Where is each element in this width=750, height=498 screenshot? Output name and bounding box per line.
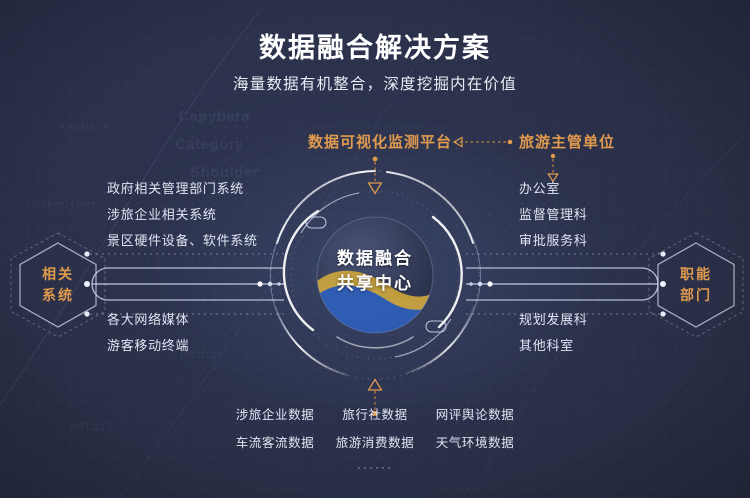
hexagon-icon <box>6 230 110 340</box>
data-cell[interactable]: 网评舆论数据 <box>425 404 525 423</box>
list-item[interactable]: 监督管理科 <box>519 202 588 228</box>
top-node-row: 数据可视化监测平台 旅游主管单位 <box>0 131 750 155</box>
data-cell[interactable]: 车流客流数据 <box>225 432 325 451</box>
list-item[interactable]: 其他科室 <box>519 333 588 359</box>
data-cell[interactable]: 旅行社数据 <box>325 404 425 423</box>
list-item[interactable]: 办公室 <box>519 176 588 202</box>
watermark-code-2: shoulder <box>40 198 98 212</box>
list-item[interactable]: 涉旅企业相关系统 <box>107 202 258 228</box>
page-title: 数据融合解决方案 <box>0 26 750 65</box>
watermark-text-1: Capybara <box>178 108 250 125</box>
left-hexagon-badge[interactable]: 相关 系统 <box>6 230 110 340</box>
bottom-data-grid: 涉旅企业数据 旅行社数据 网评舆论数据 车流客流数据 旅游消费数据 天气环境数据 <box>225 404 525 451</box>
data-cell[interactable]: 涉旅企业数据 <box>225 404 325 423</box>
data-cell[interactable]: 天气环境数据 <box>425 432 525 451</box>
right-top-department-list: 办公室 监督管理科 审批服务科 <box>519 176 588 254</box>
data-cell[interactable]: 旅游消费数据 <box>325 432 425 451</box>
list-item[interactable]: 游客移动终端 <box>107 333 189 359</box>
right-bottom-department-list: 规划发展科 其他科室 <box>519 307 588 359</box>
more-data-ellipsis: ······ <box>225 460 525 474</box>
right-hexagon-badge[interactable]: 职能 部门 <box>644 230 748 340</box>
node-tourism-authority[interactable]: 旅游主管单位 <box>519 131 615 152</box>
list-item[interactable]: 政府相关管理部门系统 <box>107 176 258 202</box>
watermark-code-4: detail <box>70 420 113 434</box>
list-item[interactable]: 景区硬件设备、软件系统 <box>107 228 258 254</box>
left-top-system-list: 政府相关管理部门系统 涉旅企业相关系统 景区硬件设备、软件系统 <box>107 176 258 254</box>
left-bottom-system-list: 各大网络媒体 游客移动终端 <box>107 307 189 359</box>
dotted-arrow-left-icon <box>444 134 516 150</box>
hexagon-icon <box>644 230 748 340</box>
list-item[interactable]: 审批服务科 <box>519 228 588 254</box>
page-subtitle: 海量数据有机整合，深度挖掘内在价值 <box>0 72 750 94</box>
list-item[interactable]: 各大网络媒体 <box>107 307 189 333</box>
data-sphere-icon <box>255 155 495 395</box>
node-visualization-platform[interactable]: 数据可视化监测平台 <box>308 131 452 152</box>
infographic-canvas: Capybara Category Shoulder require shoul… <box>0 0 750 498</box>
list-item[interactable]: 规划发展科 <box>519 307 588 333</box>
